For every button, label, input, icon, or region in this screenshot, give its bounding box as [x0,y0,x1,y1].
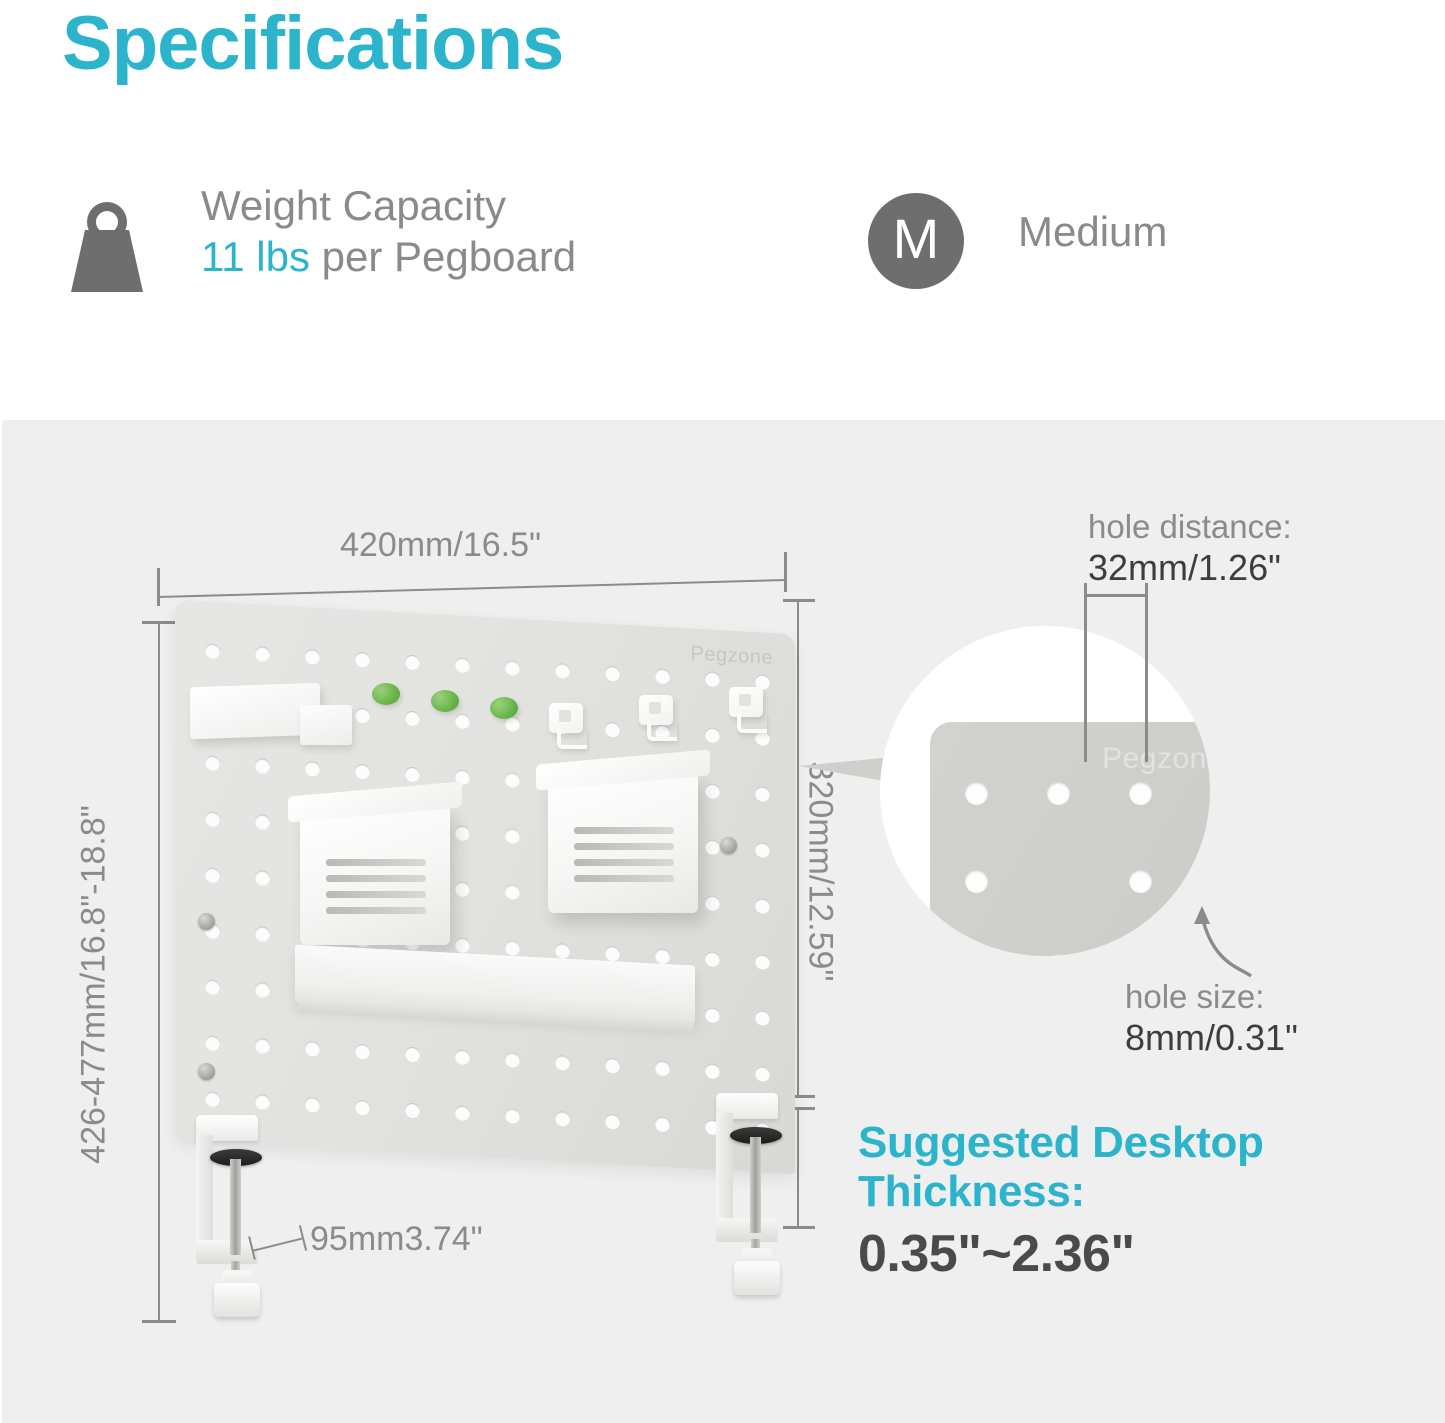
bin-vents [574,827,674,887]
magnified-pegboard-hole [1129,870,1152,893]
pegboard-hole [355,652,370,668]
magnified-brand-logo: Pegzone [1102,742,1210,776]
pegboard-hole [255,646,270,662]
hole-size-callout: hole size: 8mm/0.31" [1125,978,1385,1059]
pegboard-hole [305,1097,320,1113]
pegboard-hole [255,870,270,886]
pegboard-hole [605,946,620,962]
storage-bin [548,773,698,913]
hole-size-arrow-icon [1185,900,1265,980]
magnified-pegboard-hole [1129,782,1152,805]
clamp-back [716,1113,733,1228]
pegboard-hole [405,767,420,783]
pegboard-hole [655,949,670,965]
pegboard-hole [205,643,220,659]
clamp-knob [214,1283,260,1317]
clamp-bottom-arm [716,1218,778,1242]
pegboard-hole [755,898,770,914]
pegboard-hole [305,761,320,777]
bin-vents [326,859,426,919]
hole-distance-caption: hole distance: [1088,508,1348,547]
weight-capacity-text: Weight Capacity 11 lbs per Pegboard [201,180,761,282]
pegboard-hole [705,1007,720,1023]
pegboard-hole [505,660,520,676]
pegboard-hole [205,1091,220,1107]
hole-distance-dimension-line [1084,594,1148,597]
pegboard-hole [755,842,770,858]
clamp-back [196,1135,213,1250]
pegboard-hole [405,1047,420,1063]
size-badge: M [868,193,964,289]
clamp-knob [734,1261,780,1295]
pegboard-hole [305,649,320,665]
pegboard-hole [255,926,270,942]
weight-value: 11 lbs [201,233,310,280]
pegboard-hole [405,655,420,671]
wall-hook [639,695,673,725]
thickness-heading-line1: Suggested Desktop [858,1118,1328,1167]
hook-slot [739,694,751,706]
pegboard-hole [705,1063,720,1079]
clamp-depth-label: 95mm3.74" [310,1220,483,1259]
magnifier-inset: Pegzone [880,626,1210,956]
green-peg [372,683,400,705]
weight-value-suffix: per Pegboard [310,233,576,280]
pegboard-hole [605,1114,620,1130]
thickness-value: 0.35"~2.36" [858,1223,1328,1285]
magnified-pegboard-hole [965,782,988,805]
wall-hook [549,703,583,733]
size-badge-letter: M [868,193,964,289]
hook-slot [649,702,661,714]
weight-capacity-spec: Weight Capacity 11 lbs per Pegboard [55,188,755,308]
hole-size-value: 8mm/0.31" [1125,1017,1385,1059]
desk-clamp [188,1115,264,1320]
pegboard-hole [205,755,220,771]
pegboard-hole [655,1061,670,1077]
hole-size-caption: hole size: [1125,978,1385,1017]
hole-distance-callout: hole distance: 32mm/1.26" [1088,508,1348,589]
green-peg [490,697,518,719]
magnified-pegboard-hole [965,870,988,893]
pegboard-hole [705,783,720,799]
pegboard-hole [455,825,470,841]
pegboard-hole [505,1108,520,1124]
weight-icon [55,196,160,296]
thickness-heading-line2: Thickness: [858,1167,1328,1216]
product-illustration: Pegzone [150,555,850,1355]
pegboard-hole [755,786,770,802]
hole-distance-value: 32mm/1.26" [1088,547,1348,589]
tool-holder-arm [300,705,352,745]
clamp-bottom-arm [196,1240,258,1264]
pegboard-hole [455,937,470,953]
pegboard-hole [355,1044,370,1060]
pegboard-hole [455,1105,470,1121]
pegboard-hole [455,713,470,729]
storage-bin [300,805,450,945]
pegboard-hole [205,979,220,995]
page-title: Specifications [62,2,563,86]
magnified-hook [1126,952,1172,956]
suggested-thickness-block: Suggested Desktop Thickness: 0.35"~2.36" [858,1118,1328,1285]
pegboard-hole [505,884,520,900]
pegboard-hole [705,895,720,911]
magnifier-circle: Pegzone [880,626,1210,956]
pegboard-hole [505,1052,520,1068]
pegboard-hole [555,663,570,679]
mount-screw [198,913,215,930]
weight-capacity-value-line: 11 lbs per Pegboard [201,231,761,282]
pegboard-hole [255,814,270,830]
magnified-pegboard-hole [1047,782,1070,805]
pegboard-hole [605,1058,620,1074]
pegboard-hole [405,711,420,727]
size-spec: M Medium [868,190,1388,300]
pegboard-hole [605,666,620,682]
hook-slot [559,710,571,722]
pegboard-brand-logo: Pegzone [691,642,773,670]
weight-capacity-label: Weight Capacity [201,180,761,231]
pegboard-hole [255,1094,270,1110]
pegboard-hole [505,772,520,788]
mount-screw [720,837,737,854]
pegboard-hole [205,867,220,883]
pegboard-hole [505,940,520,956]
specifications-infographic: Specifications Weight Capacity 11 lbs pe… [0,0,1445,1423]
pegboard-hole [705,839,720,855]
desk-clamp [708,1093,784,1298]
pegboard-hole [355,764,370,780]
pegboard-hole-grid [175,600,795,635]
pegboard-hole [255,982,270,998]
green-peg [431,690,459,712]
pegboard-hole [755,1010,770,1026]
pegboard-hole [655,1117,670,1133]
header-section: Specifications Weight Capacity 11 lbs pe… [0,0,1445,420]
pegboard-hole [755,1066,770,1082]
pegboard-hole [205,1035,220,1051]
pegboard-hole [655,669,670,685]
pegboard-hole [205,811,220,827]
pegboard-hole [255,758,270,774]
hole-distance-leader-right [1145,596,1148,762]
pegboard-hole [755,954,770,970]
clamp-screw-shaft [230,1159,241,1255]
pegboard-hole [705,727,720,743]
pegboard-hole [555,1055,570,1071]
pegboard-hole [455,1049,470,1065]
pegboard-hole [705,671,720,687]
pegboard-hole [605,722,620,738]
wall-hook [729,687,763,717]
left-height-dimension-label: 426-477mm/16.8"-18.8" [75,745,114,1225]
magnified-pegboard-hole [1047,954,1070,956]
size-label: Medium [1018,208,1167,256]
magnified-pegboard: Pegzone [930,722,1210,956]
pegboard-hole [555,943,570,959]
hole-distance-leader-left [1084,596,1087,762]
pegboard-hole [555,1111,570,1127]
pegboard-hole [505,828,520,844]
magnified-pegboard-hole [965,954,988,956]
pegboard-hole [705,951,720,967]
mount-screw [198,1063,215,1080]
pegboard-hole [255,1038,270,1054]
pegboard-hole [455,881,470,897]
clamp-screw-shaft [750,1137,761,1233]
pegboard-hole [305,1041,320,1057]
pegboard-hole [405,1103,420,1119]
pegboard-hole [355,708,370,724]
pegboard-hole [455,657,470,673]
pegboard-hole [355,1100,370,1116]
